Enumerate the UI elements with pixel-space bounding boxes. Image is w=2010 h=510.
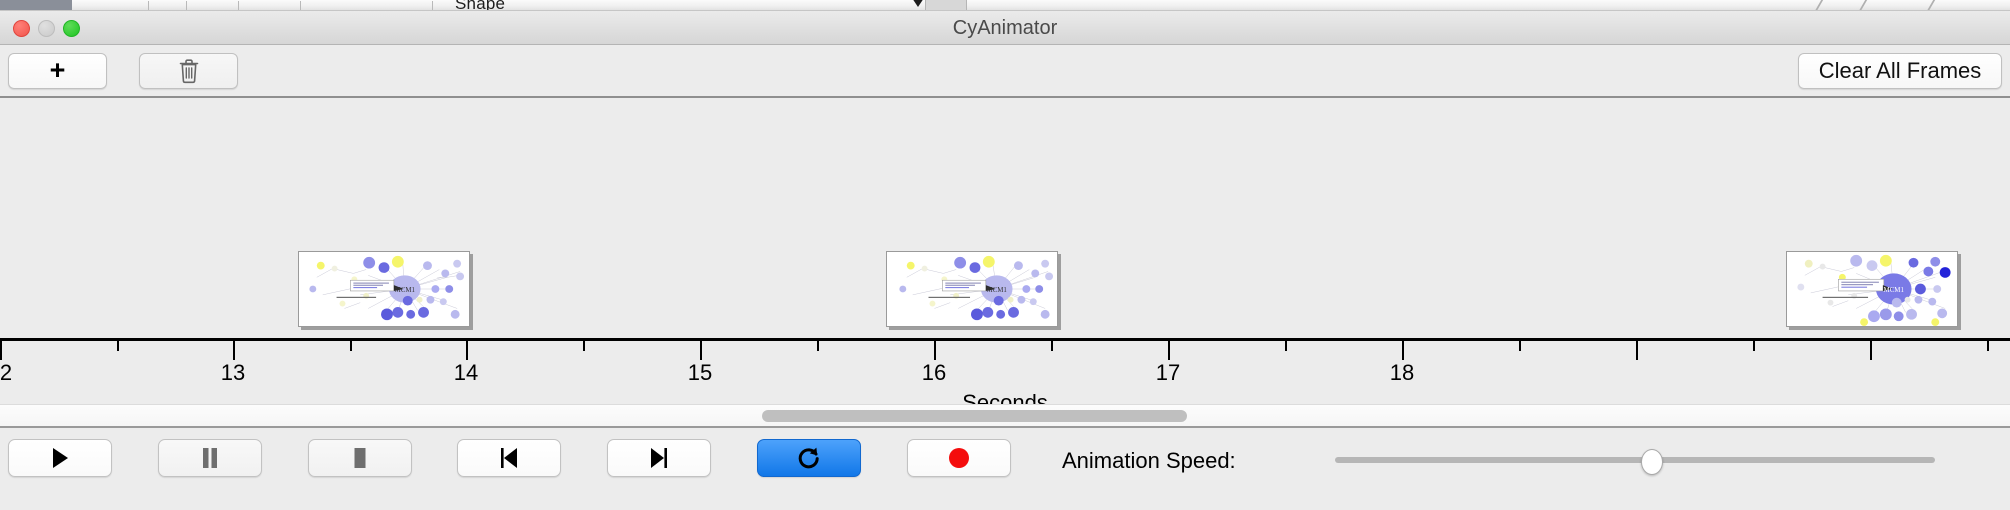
background-app-label: Shape <box>455 0 505 11</box>
pause-icon <box>200 446 220 470</box>
axis-line <box>0 338 2010 341</box>
axis-tick-minor <box>1519 341 1521 351</box>
axis-tick-label: 15 <box>688 360 712 386</box>
animation-speed-slider[interactable] <box>1335 457 1935 463</box>
record-icon <box>947 446 971 470</box>
frame-thumbnail[interactable]: MCM1 <box>1786 251 1958 327</box>
background-divider <box>238 1 239 11</box>
animation-speed-label: Animation Speed: <box>1062 448 1236 474</box>
axis-tick-major <box>1402 341 1404 360</box>
playback-toolbar: Animation Speed: <box>0 426 2010 490</box>
skip-to-start-button[interactable] <box>457 439 561 477</box>
clear-all-frames-label: Clear All Frames <box>1819 58 1982 84</box>
axis-tick-label: 2 <box>0 360 12 386</box>
axis-tick-label: 14 <box>454 360 478 386</box>
axis-tick-label: 17 <box>1156 360 1180 386</box>
axis-tick-minor <box>1051 341 1053 351</box>
axis-tick-major <box>1870 341 1872 360</box>
loop-button[interactable] <box>757 439 861 477</box>
axis-tick-major <box>0 341 2 360</box>
clear-all-frames-button[interactable]: Clear All Frames <box>1798 53 2002 89</box>
network-thumbnail-graphic: MCM1 <box>887 252 1057 326</box>
background-divider <box>300 1 301 11</box>
background-tab <box>925 0 967 11</box>
frame-thumbnail[interactable]: MCM1 <box>298 251 470 327</box>
background-divider <box>148 1 149 11</box>
axis-tick-minor <box>583 341 585 351</box>
axis-title: Seconds <box>0 390 2010 404</box>
play-icon <box>50 446 70 470</box>
timeline-axis: 2 13 14 15 16 17 18 Seconds <box>0 338 2010 404</box>
svg-text:MCM1: MCM1 <box>1884 287 1905 294</box>
axis-tick-minor <box>1987 341 1989 351</box>
svg-text:MCM1: MCM1 <box>987 287 1008 294</box>
axis-tick-major <box>466 341 468 360</box>
axis-tick-major <box>1168 341 1170 360</box>
svg-text:MCM1: MCM1 <box>395 287 416 294</box>
network-thumbnail-graphic: MCM1 <box>299 252 469 326</box>
axis-tick-minor <box>1285 341 1287 351</box>
play-button[interactable] <box>8 439 112 477</box>
stop-icon <box>350 446 370 470</box>
network-thumbnail-graphic: MCM1 <box>1787 252 1957 326</box>
axis-tick-label: 13 <box>221 360 245 386</box>
pause-button[interactable] <box>158 439 262 477</box>
background-divider <box>432 1 433 11</box>
frames-toolbar: + Clear All Frames <box>0 45 2010 98</box>
background-divider <box>186 1 187 11</box>
axis-tick-label: 18 <box>1390 360 1414 386</box>
timeline-panel[interactable]: MCM1 <box>0 98 2010 404</box>
axis-tick-major <box>934 341 936 360</box>
background-app-strip: Shape <box>0 0 2010 11</box>
axis-tick-label: 16 <box>922 360 946 386</box>
frame-thumbnail[interactable]: MCM1 <box>886 251 1058 327</box>
plus-icon: + <box>50 57 66 84</box>
background-chevron-icon <box>1815 0 1843 11</box>
skip-end-icon <box>648 446 670 470</box>
axis-tick-major <box>700 341 702 360</box>
axis-tick-major <box>1636 341 1638 360</box>
title-bar: CyAnimator <box>0 11 2010 45</box>
delete-frame-button[interactable] <box>139 53 238 89</box>
axis-tick-minor <box>1753 341 1755 351</box>
add-frame-button[interactable]: + <box>8 53 107 89</box>
cyanimator-window: CyAnimator + Clear All Frames <box>0 11 2010 510</box>
background-caret-icon <box>912 0 924 7</box>
trash-icon <box>178 58 200 84</box>
skip-to-end-button[interactable] <box>607 439 711 477</box>
record-button[interactable] <box>907 439 1011 477</box>
scrollbar-thumb[interactable] <box>762 410 1187 422</box>
background-chevron-icon <box>1927 0 1955 11</box>
skip-start-icon <box>498 446 520 470</box>
window-title: CyAnimator <box>0 17 2010 40</box>
axis-tick-minor <box>117 341 119 351</box>
timeline-scrollbar[interactable] <box>0 404 2010 426</box>
background-block <box>0 0 72 11</box>
background-chevron-icon <box>1859 0 1887 11</box>
animation-speed-slider-knob[interactable] <box>1641 449 1663 475</box>
loop-icon <box>797 445 821 471</box>
stop-button[interactable] <box>308 439 412 477</box>
axis-tick-major <box>233 341 235 360</box>
axis-tick-minor <box>350 341 352 351</box>
axis-tick-minor <box>817 341 819 351</box>
